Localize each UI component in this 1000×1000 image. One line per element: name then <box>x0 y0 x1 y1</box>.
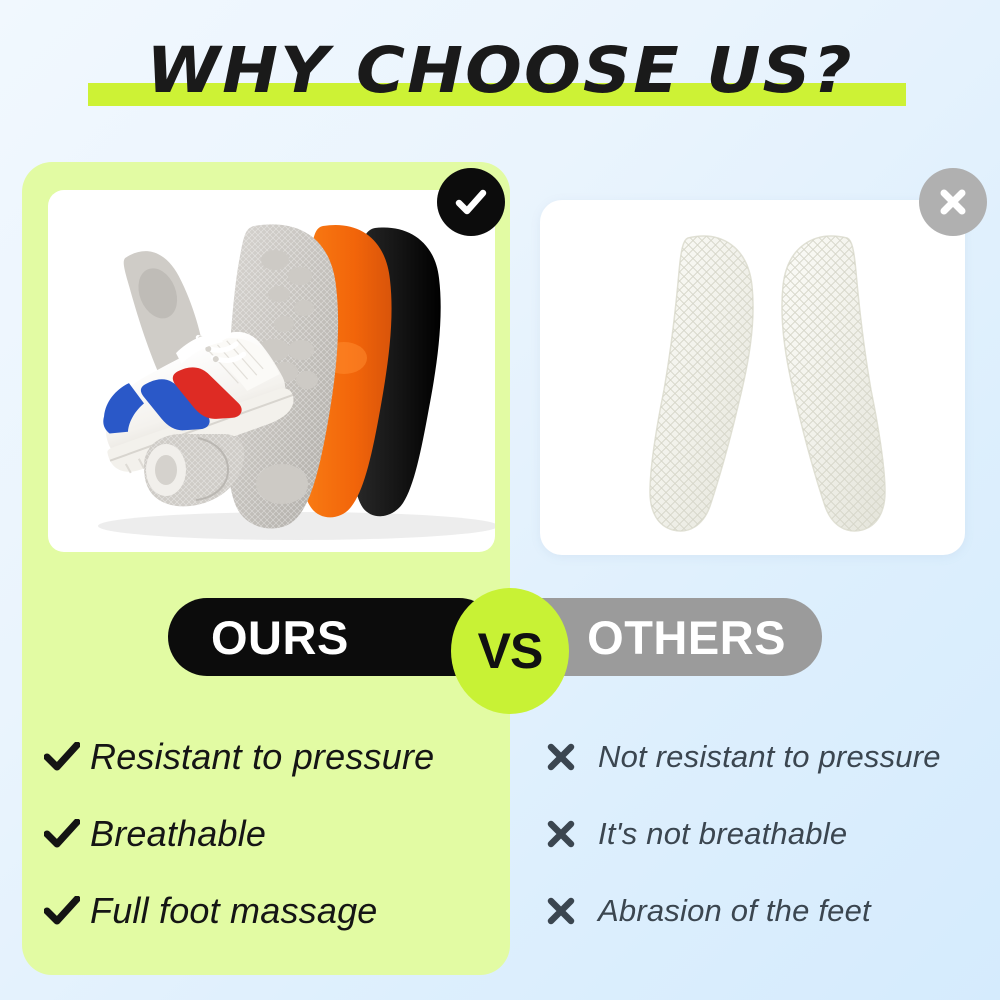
list-item-label: Breathable <box>90 813 266 855</box>
check-icon <box>453 184 489 220</box>
close-icon <box>546 819 598 849</box>
comparison-header: OURS OTHERS VS <box>0 588 1000 686</box>
vs-badge: VS <box>451 588 569 714</box>
list-item-label: It's not breathable <box>598 816 847 852</box>
close-icon <box>546 896 598 926</box>
plain-insole-left <box>650 236 753 531</box>
check-icon <box>44 742 90 772</box>
list-item: Full foot massage <box>44 872 504 949</box>
ours-pill-label: OURS <box>211 610 349 665</box>
ours-check-badge <box>437 168 505 236</box>
others-product-illustration <box>540 200 965 555</box>
list-item: Breathable <box>44 795 504 872</box>
ours-product-photo <box>48 190 495 552</box>
others-cross-badge <box>919 168 987 236</box>
list-item: Resistant to pressure <box>44 718 504 795</box>
list-item-label: Abrasion of the feet <box>598 893 871 929</box>
page-title-text: WHY CHOOSE US? <box>0 34 1000 108</box>
page-title: WHY CHOOSE US? <box>0 34 1000 120</box>
list-item-label: Full foot massage <box>90 890 378 932</box>
infographic-root: WHY CHOOSE US? <box>0 0 1000 1000</box>
others-product-photo <box>540 200 965 555</box>
close-icon <box>936 185 970 219</box>
close-icon <box>546 742 598 772</box>
list-item-label: Not resistant to pressure <box>598 739 941 775</box>
others-feature-list: Not resistant to pressure It's not breat… <box>546 718 986 949</box>
list-item: Abrasion of the feet <box>546 872 986 949</box>
plain-insole-right <box>782 236 885 531</box>
ours-product-illustration <box>48 190 495 552</box>
check-icon <box>44 819 90 849</box>
list-item: Not resistant to pressure <box>546 718 986 795</box>
list-item: It's not breathable <box>546 795 986 872</box>
vs-label: VS <box>478 622 543 680</box>
ours-pill: OURS <box>168 598 498 676</box>
list-item-label: Resistant to pressure <box>90 736 434 778</box>
ours-feature-list: Resistant to pressure Breathable Full fo… <box>44 718 504 949</box>
rolled-insole <box>144 434 244 506</box>
others-pill-label: OTHERS <box>587 610 786 665</box>
check-icon <box>44 896 90 926</box>
